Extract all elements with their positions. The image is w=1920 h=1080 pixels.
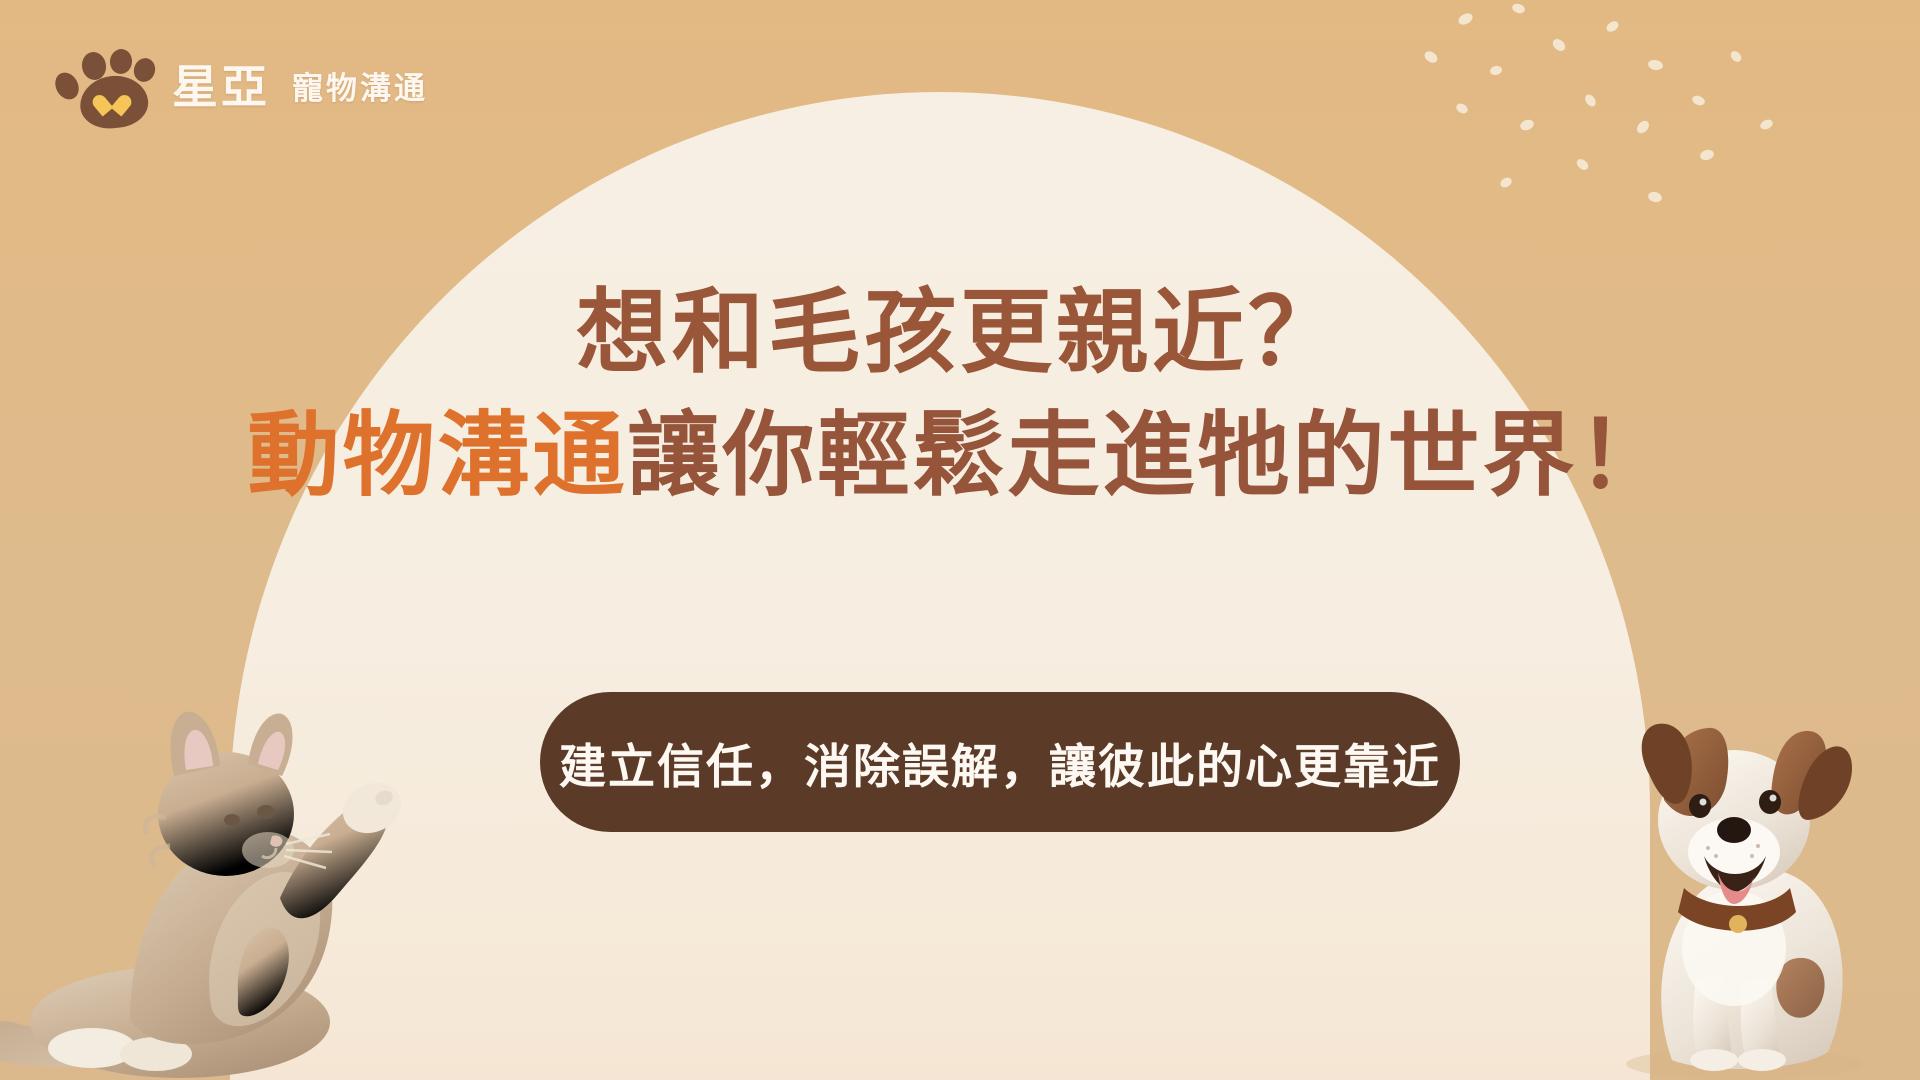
decorative-dots (1400, 0, 1920, 240)
paw-toe (109, 48, 133, 75)
dog-collar-tag (1729, 915, 1747, 933)
decor-dot (1635, 118, 1652, 135)
decor-dot (1575, 157, 1591, 172)
brand-logo[interactable]: 星亞 寵物溝通 (54, 46, 428, 130)
decor-dot (1729, 49, 1744, 64)
banner-stage: 星亞 寵物溝通 想和毛孩更親近？ 動物溝通讓你輕鬆走進牠的世界！ 建立信任，消除… (0, 0, 1920, 1080)
dog-paw (1738, 1049, 1786, 1071)
decor-dot (1457, 11, 1475, 27)
decor-dot (1583, 93, 1598, 109)
decor-dot (1759, 118, 1775, 132)
dog-eye-left (1689, 794, 1711, 818)
decor-dot (1691, 94, 1706, 107)
brand-name: 星亞 (172, 65, 270, 111)
paw-toe (51, 68, 84, 103)
cat-photo (0, 650, 500, 1080)
dog-paw (1690, 1049, 1738, 1071)
decor-dot (1455, 102, 1470, 116)
decor-dot (1647, 190, 1663, 203)
brand-subtitle: 寵物溝通 (292, 73, 428, 104)
heart-icon (101, 92, 127, 116)
decor-dot (1422, 49, 1439, 65)
headline-block: 想和毛孩更親近？ 動物溝通讓你輕鬆走進牠的世界！ (0, 282, 1920, 508)
decor-dot (1550, 37, 1567, 54)
dog-nose (1717, 817, 1751, 843)
decor-dot (1489, 65, 1503, 76)
headline-highlight: 動物溝通 (247, 405, 627, 507)
dog-eye-right (1759, 790, 1781, 814)
decor-dot (1511, 2, 1526, 15)
decor-dot (1647, 59, 1664, 71)
headline-line-2: 動物溝通讓你輕鬆走進牠的世界！ (0, 405, 1920, 508)
subtitle-pill[interactable]: 建立信任，消除誤解，讓彼此的心更靠近 (540, 692, 1460, 832)
dog-photo (1576, 680, 1906, 1080)
decor-dot (1519, 118, 1536, 132)
decor-dot (1499, 176, 1514, 190)
decor-dot (1699, 148, 1715, 161)
dog-ear-left (1642, 724, 1692, 804)
headline-line-2-rest: 讓你輕鬆走進牠的世界！ (628, 405, 1673, 507)
decor-dot (1605, 19, 1621, 34)
cat-eye (257, 805, 275, 819)
paw-print-icon (54, 46, 158, 130)
subtitle-text: 建立信任，消除誤解，讓彼此的心更靠近 (559, 728, 1441, 797)
headline-line-1: 想和毛孩更親近？ (0, 282, 1920, 385)
